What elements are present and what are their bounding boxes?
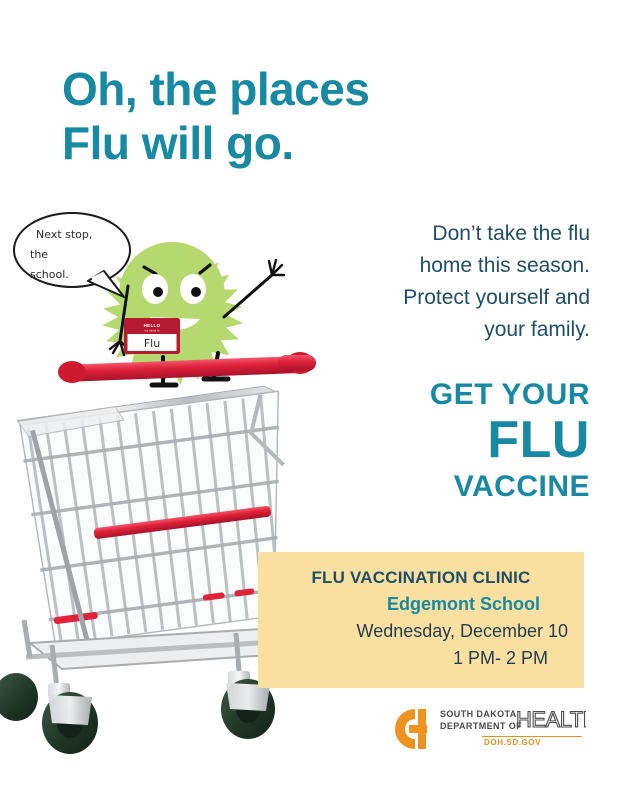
logo-url: DOH.SD.GOV xyxy=(484,738,541,747)
badge-hello-text: HELLO xyxy=(144,323,161,328)
cart-wheels xyxy=(0,671,275,754)
south-dakota-department-of-health-logo: SOUTH DAKOTA DEPARTMENT OF HEALTH DOH.SD… xyxy=(392,705,588,757)
logo-text-block: SOUTH DAKOTA DEPARTMENT OF xyxy=(440,709,522,732)
page-title: Oh, the places Flu will go. xyxy=(62,62,492,171)
logo-line-south-dakota: SOUTH DAKOTA xyxy=(440,709,522,721)
logo-underline xyxy=(482,736,582,737)
clinic-info-box: FLU VACCINATION CLINIC Edgemont School W… xyxy=(258,552,584,688)
clinic-date: Wednesday, December 10 xyxy=(272,618,570,645)
call-to-action: GET YOUR FLU VACCINE xyxy=(340,378,590,505)
body-line-4: your family. xyxy=(340,314,590,346)
speech-bubble-line-1: Next stop, xyxy=(36,228,92,241)
speech-bubble: Next stop, the school. xyxy=(14,213,130,297)
flu-vaccination-poster: Oh, the places Flu will go. xyxy=(0,0,622,805)
sd-health-logo-mark xyxy=(392,707,438,756)
badge-subtitle-text: my name is xyxy=(144,329,160,333)
speech-bubble-line-2: the xyxy=(30,248,48,261)
flu-character-shopping-cart-illustration: HELLO my name is Flu Next stop, the scho… xyxy=(0,205,345,780)
logo-line-department-of: DEPARTMENT OF xyxy=(440,721,522,733)
body-line-3: Protect yourself and xyxy=(340,282,590,314)
cta-line-vaccine: VACCINE xyxy=(340,469,590,506)
cta-line-flu: FLU xyxy=(340,412,590,469)
body-copy: Don’t take the flu home this season. Pro… xyxy=(340,218,590,346)
clinic-title: FLU VACCINATION CLINIC xyxy=(272,566,570,591)
headline-line-2: Flu will go. xyxy=(62,116,492,170)
logo-wordmark-health: HEALTH xyxy=(516,707,586,738)
body-line-2: home this season. xyxy=(340,250,590,282)
cta-line-get-your: GET YOUR xyxy=(340,378,590,412)
speech-bubble-line-3: school. xyxy=(30,268,69,281)
badge-name-text: Flu xyxy=(144,337,160,350)
name-badge: HELLO my name is Flu xyxy=(124,318,180,354)
body-line-1: Don’t take the flu xyxy=(340,218,590,250)
clinic-location: Edgemont School xyxy=(272,591,570,618)
svg-text:HEALTH: HEALTH xyxy=(516,707,586,732)
clinic-time: 1 PM- 2 PM xyxy=(272,645,570,672)
headline-line-1: Oh, the places xyxy=(62,62,492,116)
